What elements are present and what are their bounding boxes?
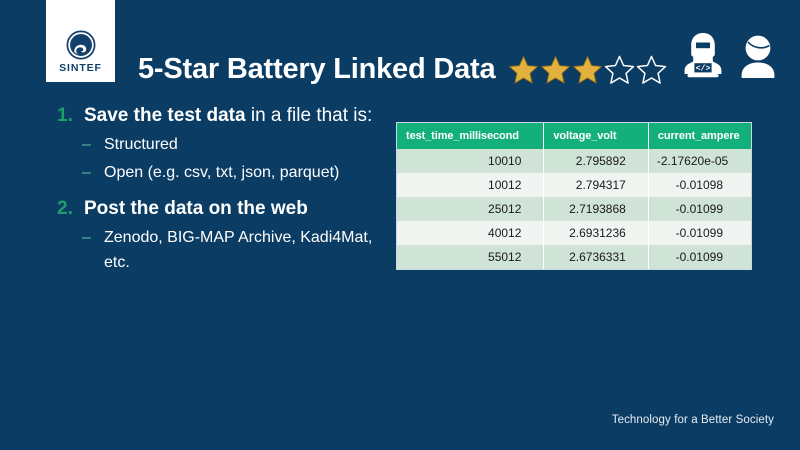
cell-test-time: 40012 xyxy=(397,221,544,245)
battery-data-table: test_time_millisecond voltage_volt curre… xyxy=(397,123,751,269)
star-filled-3 xyxy=(572,54,603,85)
sub-text-1-2: Open (e.g. csv, txt, json, parquet) xyxy=(104,164,339,181)
cell-current: -0.01099 xyxy=(648,197,751,221)
sub-item-2-1: – Zenodo, BIG-MAP Archive, Kadi4Mat, etc… xyxy=(46,225,376,275)
table-row: 10012 2.794317 -0.01098 xyxy=(397,173,751,197)
data-table-container: test_time_millisecond voltage_volt curre… xyxy=(396,122,752,270)
dash-bullet-icon: – xyxy=(82,160,91,185)
sintef-wordmark: SINTEF xyxy=(46,62,115,74)
cell-current: -0.01099 xyxy=(648,221,751,245)
cell-voltage: 2.795892 xyxy=(544,149,648,173)
star-filled-1 xyxy=(508,54,539,85)
list-item-2: 2. Post the data on the web xyxy=(46,196,376,222)
star-empty-4 xyxy=(604,54,635,85)
list-text-1: Save the test data in a file that is: xyxy=(84,105,372,126)
column-header-voltage: voltage_volt xyxy=(544,123,648,149)
star-rating xyxy=(508,54,667,85)
table-row: 40012 2.6931236 -0.01099 xyxy=(397,221,751,245)
table-row: 10010 2.795892 -2.17620e-05 xyxy=(397,149,751,173)
cell-test-time: 10010 xyxy=(397,149,544,173)
list-spacer xyxy=(46,185,376,196)
table-row: 55012 2.6736331 -0.01099 xyxy=(397,245,751,269)
user-avatar-icon xyxy=(738,34,778,85)
column-header-test-time: test_time_millisecond xyxy=(397,123,544,149)
cell-voltage: 2.6931236 xyxy=(544,221,648,245)
cell-test-time: 55012 xyxy=(397,245,544,269)
cell-voltage: 2.7193868 xyxy=(544,197,648,221)
list-rest-1: in a file that is: xyxy=(246,105,373,126)
developer-laptop-icon: </> xyxy=(682,30,724,85)
dash-bullet-icon: – xyxy=(82,132,91,157)
title-row: 5-Star Battery Linked Data xyxy=(138,47,667,91)
cell-voltage: 2.794317 xyxy=(544,173,648,197)
page-title: 5-Star Battery Linked Data xyxy=(138,53,495,86)
sintef-circle-icon xyxy=(66,30,96,60)
list-lead-2: Post the data on the web xyxy=(84,198,308,219)
slide-canvas: SINTEF 5-Star Battery Linked Data xyxy=(0,0,800,450)
cell-current: -2.17620e-05 xyxy=(648,149,751,173)
cell-test-time: 10012 xyxy=(397,173,544,197)
column-header-current: current_ampere xyxy=(648,123,751,149)
sub-text-2-1: Zenodo, BIG-MAP Archive, Kadi4Mat, etc. xyxy=(104,229,372,271)
list-number-2: 2. xyxy=(57,196,73,222)
sub-item-1-2: – Open (e.g. csv, txt, json, parquet) xyxy=(46,160,376,185)
star-empty-5 xyxy=(636,54,667,85)
cell-current: -0.01099 xyxy=(648,245,751,269)
sub-text-1-1: Structured xyxy=(104,136,178,153)
dash-bullet-icon: – xyxy=(82,225,91,250)
list-item-1: 1. Save the test data in a file that is: xyxy=(46,103,376,129)
list-number-1: 1. xyxy=(57,103,73,129)
list-lead-1: Save the test data xyxy=(84,105,246,126)
footer-tagline: Technology for a Better Society xyxy=(612,414,774,426)
sub-item-1-1: – Structured xyxy=(46,132,376,157)
svg-text:</>: </> xyxy=(696,63,711,73)
star-filled-2 xyxy=(540,54,571,85)
content-list: 1. Save the test data in a file that is:… xyxy=(46,103,376,275)
table-row: 25012 2.7193868 -0.01099 xyxy=(397,197,751,221)
sintef-logo-panel: SINTEF xyxy=(46,0,115,82)
list-text-2: Post the data on the web xyxy=(84,198,308,219)
cell-current: -0.01098 xyxy=(648,173,751,197)
table-header-row: test_time_millisecond voltage_volt curre… xyxy=(397,123,751,149)
cell-voltage: 2.6736331 xyxy=(544,245,648,269)
cell-test-time: 25012 xyxy=(397,197,544,221)
header-icon-group: </> xyxy=(682,30,778,85)
